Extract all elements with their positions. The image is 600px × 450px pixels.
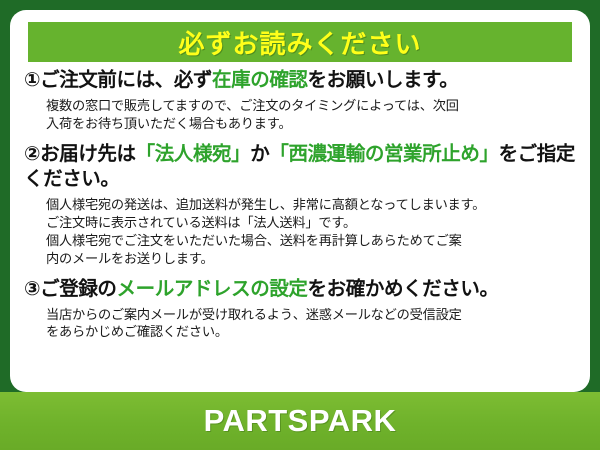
list-item: ③ご登録のメールアドレスの設定をお確かめください。 当店からのご案内メールが受け…: [24, 277, 580, 342]
item-subtext-line: 個人様宅宛の発送は、追加送料が発生し、非常に高額となってしまいます。: [46, 196, 580, 214]
item-subtext: 個人様宅宛の発送は、追加送料が発生し、非常に高額となってしまいます。 ご注文時に…: [24, 196, 580, 268]
item-heading-part: をお確かめください。: [308, 278, 499, 300]
item-heading-part: お届け先は: [40, 143, 136, 165]
item-heading-highlight: 「西濃運輸の営業所止め」: [269, 143, 498, 165]
item-subtext: 複数の窓口で販売してますので、ご注文のタイミングによっては、次回 入荷をお待ち頂…: [24, 97, 580, 133]
item-heading: ①ご注文前には、必ず在庫の確認をお願いします。: [24, 68, 580, 93]
item-number: ①: [24, 69, 40, 91]
notice-banner: 必ずお読みください ①ご注文前には、必ず在庫の確認をお願いします。 複数の窓口で…: [0, 0, 600, 450]
item-subtext-line: 内のメールをお送りします。: [46, 250, 580, 268]
item-subtext-line: 複数の窓口で販売してますので、ご注文のタイミングによっては、次回: [46, 97, 580, 115]
item-heading-part: をお願いします。: [308, 69, 459, 91]
item-heading-highlight: 在庫の確認: [212, 69, 308, 91]
footer-bar: PARTSPARK: [0, 392, 600, 450]
item-subtext-line: 当店からのご案内メールが受け取れるよう、迷惑メールなどの受信設定: [46, 306, 580, 324]
item-number: ②: [24, 143, 40, 165]
item-heading-part: ご注文前には、必ず: [40, 69, 212, 91]
notice-panel: 必ずお読みください ①ご注文前には、必ず在庫の確認をお願いします。 複数の窓口で…: [10, 10, 590, 392]
item-heading-highlight: 「法人様宛」: [136, 143, 251, 165]
item-heading: ③ご登録のメールアドレスの設定をお確かめください。: [24, 277, 580, 302]
item-number: ③: [24, 278, 40, 300]
list-item: ②お届け先は「法人様宛」か「西濃運輸の営業所止め」をご指定ください。 個人様宅宛…: [24, 142, 580, 268]
item-heading-highlight: メールアドレスの設定: [117, 278, 308, 300]
item-heading-part: か: [250, 143, 269, 165]
item-subtext: 当店からのご案内メールが受け取れるよう、迷惑メールなどの受信設定 をあらかじめご…: [24, 306, 580, 342]
item-heading-part: ご登録の: [40, 278, 116, 300]
item-subtext-line: 入荷をお待ち頂いただく場合もあります。: [46, 115, 580, 133]
header-bar: 必ずお読みください: [28, 22, 572, 62]
item-subtext-line: をあらかじめご確認ください。: [46, 323, 580, 341]
notice-items-list: ①ご注文前には、必ず在庫の確認をお願いします。 複数の窓口で販売してますので、ご…: [10, 68, 590, 348]
item-heading: ②お届け先は「法人様宛」か「西濃運輸の営業所止め」をご指定ください。: [24, 142, 580, 192]
page-title: 必ずお読みください: [178, 24, 421, 61]
list-item: ①ご注文前には、必ず在庫の確認をお願いします。 複数の窓口で販売してますので、ご…: [24, 68, 580, 133]
item-subtext-line: 個人様宅宛でご注文をいただいた場合、送料を再計算しあらためてご案: [46, 232, 580, 250]
item-subtext-line: ご注文時に表示されている送料は「法人送料」です。: [46, 214, 580, 232]
brand-logo-text: PARTSPARK: [204, 403, 397, 439]
